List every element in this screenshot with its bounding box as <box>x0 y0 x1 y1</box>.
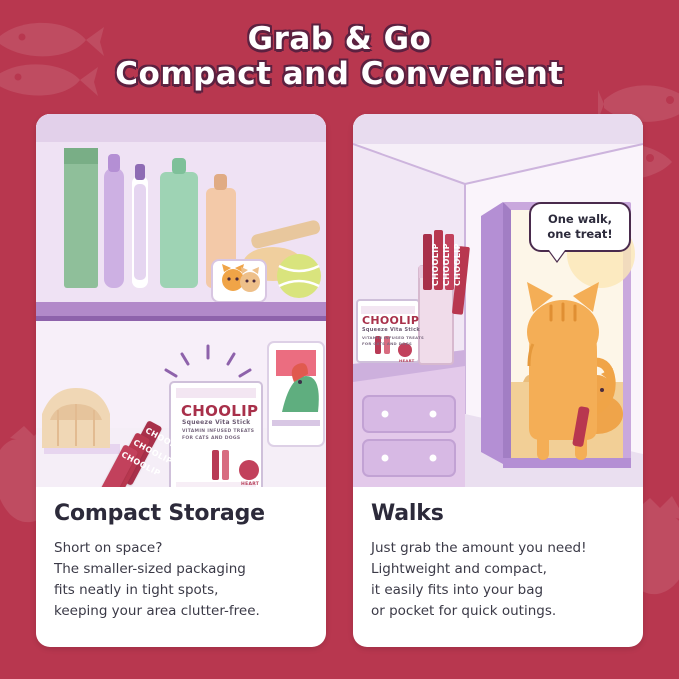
cabinet-box-subtitle: Squeeze Vita Stick <box>362 327 420 333</box>
cabinet-box-line-1: VITAMIN INFUSED TREATS <box>362 335 424 340</box>
stick-label-3: CHOOLIP <box>453 243 462 286</box>
cabinet-box-line-2: FOR CATS AND DOGS <box>362 341 412 346</box>
card-walks-title: Walks <box>371 501 625 526</box>
body-line-3: it easily fits into your bag <box>371 580 625 601</box>
body-line-2: Lightweight and compact, <box>371 559 625 580</box>
product-box-line-1: VITAMIN INFUSED TREATS <box>182 429 254 434</box>
product-box-brand: CHOOLIP <box>181 402 258 420</box>
card-compact-storage-title: Compact Storage <box>54 501 308 526</box>
card-compact-storage-body: Short on space? The smaller-sized packag… <box>54 538 308 622</box>
speech-bubble-line-2: one treat! <box>540 227 620 242</box>
card-walks[interactable]: CHOOLIP Squeeze Vita Stick VITAMIN INFUS… <box>353 114 643 647</box>
body-line-1: Just grab the amount you need! <box>371 538 625 559</box>
front-door-illustration-svg <box>353 114 643 487</box>
illustration-pantry-shelf: CHOOLIP Squeeze Vita Stick VITAMIN INFUS… <box>36 114 326 487</box>
cabinet-box-brand: CHOOLIP <box>362 314 419 327</box>
speech-bubble: One walk, one treat! <box>529 202 631 252</box>
stick-label-1: CHOOLIP <box>431 243 440 286</box>
page-title: Grab & Go Compact and Convenient <box>0 22 679 91</box>
illustration-front-door: CHOOLIP Squeeze Vita Stick VITAMIN INFUS… <box>353 114 643 487</box>
body-line-4: keeping your area clutter-free. <box>54 601 308 622</box>
product-box-line-2: FOR CATS AND DOGS <box>182 436 240 441</box>
stick-label-2: CHOOLIP <box>442 243 451 286</box>
pantry-illustration-svg <box>36 114 326 487</box>
body-line-2: The smaller-sized packaging <box>54 559 308 580</box>
cabinet-box-badge: HEART <box>399 358 415 363</box>
headline-line-2: Compact and Convenient <box>0 57 679 92</box>
card-compact-storage-text: Compact Storage Short on space? The smal… <box>36 487 326 622</box>
body-line-1: Short on space? <box>54 538 308 559</box>
speech-bubble-line-1: One walk, <box>540 212 620 227</box>
body-line-3: fits neatly in tight spots, <box>54 580 308 601</box>
body-line-4: or pocket for quick outings. <box>371 601 625 622</box>
poster-canvas: Grab & Go Compact and Convenient <box>0 0 679 679</box>
product-box-subtitle: Squeeze Vita Stick <box>182 419 250 426</box>
card-compact-storage[interactable]: CHOOLIP Squeeze Vita Stick VITAMIN INFUS… <box>36 114 326 647</box>
headline-line-1: Grab & Go <box>0 22 679 57</box>
card-walks-text: Walks Just grab the amount you need! Lig… <box>353 487 643 622</box>
card-walks-body: Just grab the amount you need! Lightweig… <box>371 538 625 622</box>
